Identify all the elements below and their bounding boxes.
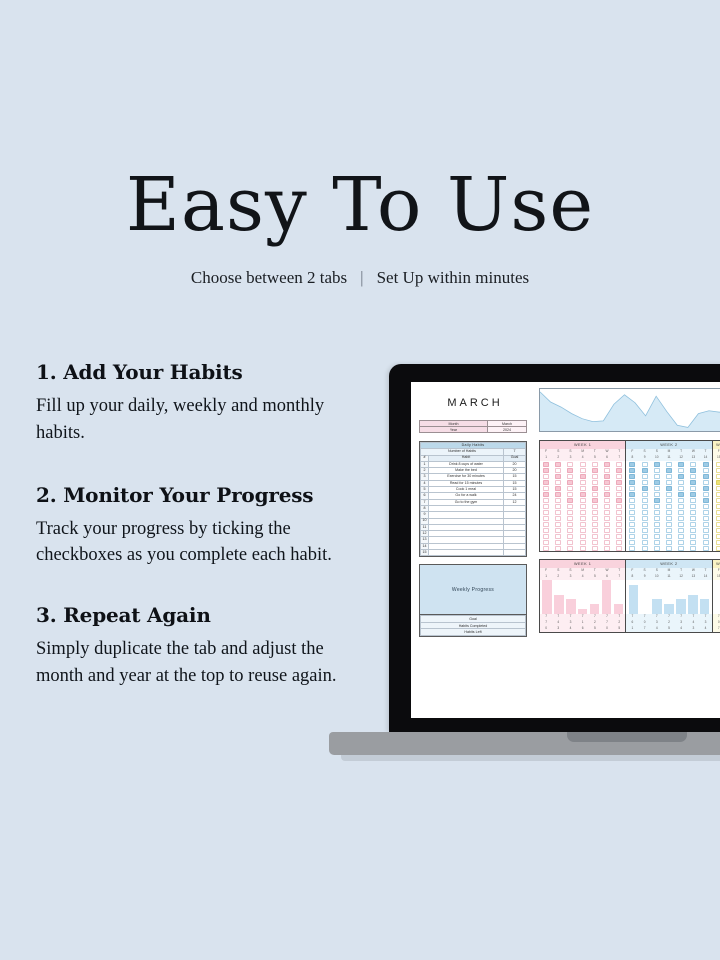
completion-bar xyxy=(652,599,662,614)
wp-row-left: Habits Left xyxy=(421,629,526,636)
week-heading: WEEK 2 xyxy=(626,441,711,449)
summary-value: 5 xyxy=(613,626,625,632)
habit-checkbox[interactable] xyxy=(613,545,625,551)
page-title: Easy To Use xyxy=(0,168,720,242)
completion-bar xyxy=(629,585,639,614)
step-3-title: 3. Repeat Again xyxy=(36,603,346,627)
weekly-progress-panel: Weekly Progress Goal Habits Completed Ha… xyxy=(419,564,527,637)
habit-rows-body: 1Drink 8 cups of water202Make the bed203… xyxy=(421,461,526,555)
completion-bar xyxy=(688,595,698,614)
checkbox-row-empty xyxy=(540,545,625,551)
week-heading: WEEK 3 xyxy=(713,441,720,449)
habit-checkbox[interactable] xyxy=(651,545,663,551)
completion-bar-chart xyxy=(540,580,625,614)
year-value[interactable]: 2024 xyxy=(488,427,527,433)
completion-bar xyxy=(566,599,576,614)
steps-list: 1. Add Your Habits Fill up your daily, w… xyxy=(36,360,346,712)
trend-area-svg xyxy=(540,389,720,431)
habit-checkbox[interactable] xyxy=(577,545,589,551)
completion-bar xyxy=(614,604,624,614)
completion-bar xyxy=(542,580,552,614)
laptop-base xyxy=(329,732,720,755)
week-summary: WEEK 3FS1516770374 xyxy=(712,559,720,633)
summary-row-left: 74 xyxy=(713,626,720,632)
page-header: Easy To Use Choose between 2 tabs | Set … xyxy=(0,0,720,288)
step-1-body: Fill up your daily, weekly and monthly h… xyxy=(36,393,346,447)
summary-value: 4 xyxy=(564,626,576,632)
habit-checkbox[interactable] xyxy=(675,545,687,551)
step-2-body: Track your progress by ticking the check… xyxy=(36,516,346,570)
habit-checkbox[interactable] xyxy=(589,545,601,551)
weekly-checkbox-grids: WEEK 1FSSMTWT1234567WEEK 2FSSMTWT8910111… xyxy=(539,440,720,552)
month-year-table: Month March Year 2024 xyxy=(419,420,527,433)
habit-checkbox[interactable] xyxy=(540,545,552,551)
summary-value: 3 xyxy=(552,626,564,632)
summary-value: 5 xyxy=(589,626,601,632)
monthly-trend-chart xyxy=(539,388,720,432)
habit-row: 15 xyxy=(421,550,526,556)
habit-checkbox[interactable] xyxy=(601,545,613,551)
completion-bar xyxy=(676,599,686,614)
week-heading: WEEK 1 xyxy=(540,560,625,568)
completion-bar-chart xyxy=(713,580,720,614)
weekly-progress-chart-label: Weekly Progress xyxy=(420,565,526,615)
habit-tracker-spreadsheet: MARCH Month March Year 2024 Da xyxy=(411,382,720,718)
step-3-body: Simply duplicate the tab and adjust the … xyxy=(36,636,346,690)
laptop-mockup: MARCH Month March Year 2024 Da xyxy=(389,364,720,764)
completion-bar xyxy=(590,604,600,614)
laptop-base-notch xyxy=(567,732,687,742)
summary-value: 0 xyxy=(540,626,552,632)
week-heading: WEEK 3 xyxy=(713,560,720,568)
summary-value: 4 xyxy=(699,626,711,632)
summary-value: 4 xyxy=(675,626,687,632)
summary-value: 6 xyxy=(577,626,589,632)
month-title: MARCH xyxy=(419,388,531,420)
week-heading: WEEK 2 xyxy=(626,560,711,568)
summary-value: 7 xyxy=(713,626,720,632)
laptop-base-shadow xyxy=(341,755,720,761)
completion-bar xyxy=(578,609,588,614)
week-heading: WEEK 1 xyxy=(540,441,625,449)
summary-value: 4 xyxy=(651,626,663,632)
subtitle: Choose between 2 tabs | Set Up within mi… xyxy=(0,268,720,288)
laptop-screen: MARCH Month March Year 2024 Da xyxy=(411,382,720,718)
checkbox-row-empty xyxy=(713,545,720,551)
week-grid: WEEK 3FS1516 xyxy=(712,440,720,552)
step-3: 3. Repeat Again Simply duplicate the tab… xyxy=(36,603,346,690)
summary-row-left: 1745434 xyxy=(626,626,711,632)
habit-checkbox[interactable] xyxy=(663,545,675,551)
week-grid: WEEK 1FSSMTWT1234567 xyxy=(539,440,625,552)
daily-habits-table: Daily Habits Number of Habits 7 # Habit … xyxy=(419,441,527,557)
habit-checkbox[interactable] xyxy=(626,545,638,551)
completion-bar xyxy=(602,580,612,614)
step-1-title: 1. Add Your Habits xyxy=(36,360,346,384)
habit-checkbox[interactable] xyxy=(687,545,699,551)
summary-value: 3 xyxy=(687,626,699,632)
summary-value: 0 xyxy=(601,626,613,632)
week-grid: WEEK 2FSSMTWT891011121314 xyxy=(625,440,711,552)
sheet-left-column: MARCH Month March Year 2024 Da xyxy=(419,388,531,637)
summary-value: 1 xyxy=(626,626,638,632)
year-label: Year xyxy=(420,427,488,433)
subtitle-separator: | xyxy=(360,268,363,288)
sheet-right-column: WEEK 1FSSMTWT1234567WEEK 2FSSMTWT8910111… xyxy=(539,388,720,637)
habit-checkbox[interactable] xyxy=(552,545,564,551)
habit-checkbox[interactable] xyxy=(564,545,576,551)
habit-goal[interactable] xyxy=(504,550,526,556)
summary-row-left: 0346505 xyxy=(540,626,625,632)
habit-name[interactable] xyxy=(429,550,504,556)
subtitle-right: Set Up within minutes xyxy=(377,268,530,288)
step-2-title: 2. Monitor Your Progress xyxy=(36,483,346,507)
subtitle-left: Choose between 2 tabs xyxy=(191,268,347,288)
summary-value: 5 xyxy=(663,626,675,632)
year-row: Year 2024 xyxy=(420,427,527,433)
habit-checkbox[interactable] xyxy=(639,545,651,551)
completion-bar xyxy=(700,599,710,614)
completion-bar-chart xyxy=(626,580,711,614)
habit-index: 15 xyxy=(421,550,429,556)
summary-value: 7 xyxy=(639,626,651,632)
habit-checkbox[interactable] xyxy=(713,545,720,551)
completion-bar xyxy=(554,595,564,614)
week-summary: WEEK 2FSSMTWT891011121314777777760323431… xyxy=(625,559,711,633)
step-2: 2. Monitor Your Progress Track your prog… xyxy=(36,483,346,570)
checkbox-row-empty xyxy=(626,545,711,551)
weekly-summary-charts: WEEK 1FSSMTWT123456777777777431272034650… xyxy=(539,559,720,633)
step-1: 1. Add Your Habits Fill up your daily, w… xyxy=(36,360,346,447)
completion-bar xyxy=(664,604,674,614)
habit-checkbox[interactable] xyxy=(699,545,711,551)
week-summary: WEEK 1FSSMTWT123456777777777431272034650… xyxy=(539,559,625,633)
